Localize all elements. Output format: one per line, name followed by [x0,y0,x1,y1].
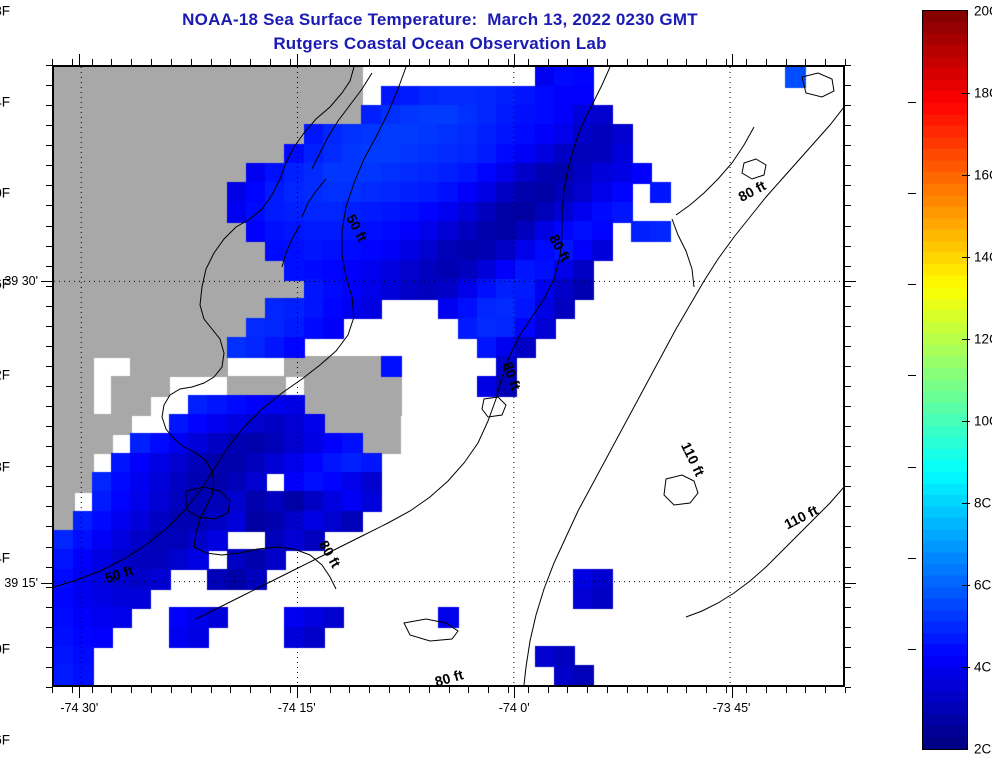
y-minor-tick [46,185,52,186]
y-minor-tick [845,547,851,548]
y-minor-tick [845,266,851,267]
x-minor-tick [607,687,608,693]
colorbar-tick-right [962,421,970,422]
y-minor-tick [46,145,52,146]
x-minor-tick [686,687,687,693]
x-minor-tick [587,59,588,65]
x-minor-tick [191,687,192,693]
y-minor-tick [845,466,851,467]
y-minor-tick [46,226,52,227]
y-minor-tick [845,105,851,106]
y-minor-tick [845,647,851,648]
colorbar-celsius-label: 16C [974,168,992,183]
x-minor-tick [488,687,489,693]
y-minor-tick [845,667,851,668]
x-minor-tick [627,59,628,65]
y-minor-tick [845,446,851,447]
x-minor-tick [627,687,628,693]
y-minor-tick [46,627,52,628]
x-minor-tick [766,59,767,65]
y-minor-tick [845,226,851,227]
y-minor-tick [845,65,851,66]
y-minor-tick [46,667,52,668]
x-minor-tick [131,687,132,693]
colorbar-fahrenheit-label: 68F [0,4,10,19]
x-minor-tick [290,59,291,65]
y-minor-tick [46,246,52,247]
x-minor-tick [211,59,212,65]
colorbar-tick-left [908,467,916,468]
colorbar-tick-right [962,667,970,668]
colorbar-tick-left [908,558,916,559]
y-major-tick [41,281,52,282]
colorbar-tick-right [962,585,970,586]
x-minor-tick [310,59,311,65]
x-minor-tick [647,687,648,693]
y-minor-tick [845,386,851,387]
y-minor-tick [845,587,851,588]
colorbar-celsius-label: 12C [974,332,992,347]
x-minor-tick [310,687,311,693]
y-minor-tick [46,266,52,267]
y-minor-tick [845,246,851,247]
y-minor-tick [46,306,52,307]
x-minor-tick [667,59,668,65]
sst-map-frame[interactable] [52,65,845,687]
colorbar-celsius-label: 4C [974,660,991,675]
colorbar-celsius-label: 10C [974,414,992,429]
x-major-tick [297,687,298,698]
y-minor-tick [845,627,851,628]
x-minor-tick [508,59,509,65]
colorbar-celsius-label: 20C [974,4,992,19]
x-minor-tick [805,687,806,693]
x-minor-tick [825,687,826,693]
y-major-tick [845,281,856,282]
x-minor-tick [171,687,172,693]
x-minor-tick [230,59,231,65]
x-minor-tick [349,59,350,65]
x-minor-tick [52,59,53,65]
x-minor-tick [250,687,251,693]
y-minor-tick [46,286,52,287]
colorbar-fahrenheit-label: 48F [0,459,10,474]
x-minor-tick [726,59,727,65]
x-minor-tick [151,687,152,693]
x-major-tick [732,687,733,698]
x-minor-tick [528,687,529,693]
colorbar-tick-left [908,284,916,285]
y-minor-tick [845,326,851,327]
x-minor-tick [409,687,410,693]
x-minor-tick [567,687,568,693]
x-minor-tick [686,59,687,65]
y-minor-tick [845,526,851,527]
x-minor-tick [131,59,132,65]
x-minor-tick [587,687,588,693]
colorbar-celsius-label: 14C [974,250,992,265]
y-minor-tick [845,607,851,608]
x-minor-tick [111,687,112,693]
colorbar-tick-right [962,503,970,504]
colorbar-wrap[interactable] [922,10,968,750]
y-minor-tick [845,125,851,126]
y-minor-tick [845,486,851,487]
x-major-tick [79,687,80,698]
y-minor-tick [845,165,851,166]
x-major-tick [514,54,515,65]
y-minor-tick [845,185,851,186]
x-minor-tick [429,687,430,693]
x-minor-tick [230,687,231,693]
colorbar-tick-left [908,102,916,103]
y-major-tick [41,583,52,584]
x-minor-tick [290,687,291,693]
colorbar-fahrenheit-label: 44F [0,550,10,565]
y-minor-tick [46,346,52,347]
x-minor-tick [369,687,370,693]
y-minor-tick [46,426,52,427]
x-minor-tick [369,59,370,65]
colorbar-tick-right [962,257,970,258]
y-minor-tick [845,687,851,688]
latlon-gridlines [54,67,843,685]
y-minor-tick [46,486,52,487]
x-minor-tick [111,59,112,65]
x-major-tick [732,54,733,65]
y-minor-tick [46,647,52,648]
x-minor-tick [528,59,529,65]
x-minor-tick [349,687,350,693]
x-minor-tick [191,59,192,65]
colorbar-tick-left [908,375,916,376]
y-minor-tick [46,125,52,126]
temperature-colorbar[interactable] [922,10,968,750]
colorbar-fahrenheit-label: 64F [0,95,10,110]
x-minor-tick [726,687,727,693]
colorbar-tick-right [962,93,970,94]
x-minor-tick [607,59,608,65]
y-minor-tick [845,85,851,86]
x-axis-tick-label: -74 0' [499,701,530,715]
y-minor-tick [46,406,52,407]
x-minor-tick [270,59,271,65]
colorbar-celsius-label: 8C [974,496,991,511]
x-minor-tick [468,59,469,65]
x-major-tick [514,687,515,698]
y-minor-tick [845,426,851,427]
x-minor-tick [72,59,73,65]
x-minor-tick [746,59,747,65]
x-minor-tick [171,59,172,65]
colorbar-fahrenheit-label: 56F [0,277,10,292]
y-minor-tick [845,567,851,568]
x-minor-tick [389,687,390,693]
x-minor-tick [706,59,707,65]
y-minor-tick [46,567,52,568]
y-minor-tick [46,105,52,106]
page-subtitle: Rutgers Coastal Ocean Observation Lab [0,32,880,56]
x-minor-tick [647,59,648,65]
x-axis-tick-label: -74 30' [60,701,98,715]
y-minor-tick [46,165,52,166]
x-minor-tick [92,59,93,65]
y-major-tick [845,583,856,584]
x-minor-tick [548,59,549,65]
y-minor-tick [845,205,851,206]
colorbar-fahrenheit-label: 52F [0,368,10,383]
colorbar-fahrenheit-label: 40F [0,641,10,656]
map-clip [54,67,843,685]
y-minor-tick [46,547,52,548]
x-minor-tick [211,687,212,693]
x-minor-tick [667,687,668,693]
y-axis-tick-label: 39 15' [0,576,38,590]
x-minor-tick [92,687,93,693]
x-minor-tick [825,59,826,65]
y-minor-tick [845,346,851,347]
colorbar-fahrenheit-label: 60F [0,186,10,201]
colorbar-tick-right [962,175,970,176]
y-minor-tick [845,366,851,367]
x-minor-tick [449,59,450,65]
x-minor-tick [151,59,152,65]
colorbar-tick-right [962,339,970,340]
y-minor-tick [46,366,52,367]
colorbar-tick-left [908,193,916,194]
y-minor-tick [845,145,851,146]
y-minor-tick [46,506,52,507]
y-minor-tick [46,587,52,588]
y-minor-tick [845,306,851,307]
colorbar-celsius-label: 2C [974,742,991,757]
y-minor-tick [845,406,851,407]
colorbar-tick-left [908,649,916,650]
x-minor-tick [389,59,390,65]
x-minor-tick [786,687,787,693]
chart-title-block: NOAA-18 Sea Surface Temperature: March 1… [0,8,880,56]
x-minor-tick [508,687,509,693]
y-minor-tick [46,65,52,66]
y-minor-tick [46,526,52,527]
x-minor-tick [567,59,568,65]
x-minor-tick [330,687,331,693]
x-minor-tick [409,59,410,65]
y-minor-tick [46,466,52,467]
y-minor-tick [46,687,52,688]
colorbar-celsius-label: 6C [974,578,991,593]
x-minor-tick [548,687,549,693]
x-minor-tick [449,687,450,693]
x-axis-tick-label: -74 15' [278,701,316,715]
x-major-tick [79,54,80,65]
y-minor-tick [46,205,52,206]
x-minor-tick [250,59,251,65]
x-minor-tick [468,687,469,693]
y-minor-tick [46,386,52,387]
x-minor-tick [72,687,73,693]
page-title: NOAA-18 Sea Surface Temperature: March 1… [0,8,880,32]
x-minor-tick [786,59,787,65]
y-minor-tick [46,446,52,447]
x-minor-tick [52,687,53,693]
colorbar-fahrenheit-label: 36F [0,732,10,747]
x-minor-tick [429,59,430,65]
x-minor-tick [330,59,331,65]
y-minor-tick [46,607,52,608]
y-minor-tick [46,85,52,86]
y-minor-tick [845,286,851,287]
colorbar-celsius-label: 18C [974,86,992,101]
x-minor-tick [270,687,271,693]
x-minor-tick [488,59,489,65]
x-minor-tick [706,687,707,693]
x-minor-tick [766,687,767,693]
x-major-tick [297,54,298,65]
y-minor-tick [845,506,851,507]
x-minor-tick [805,59,806,65]
x-axis-tick-label: -73 45' [713,701,751,715]
x-minor-tick [746,687,747,693]
y-minor-tick [46,326,52,327]
